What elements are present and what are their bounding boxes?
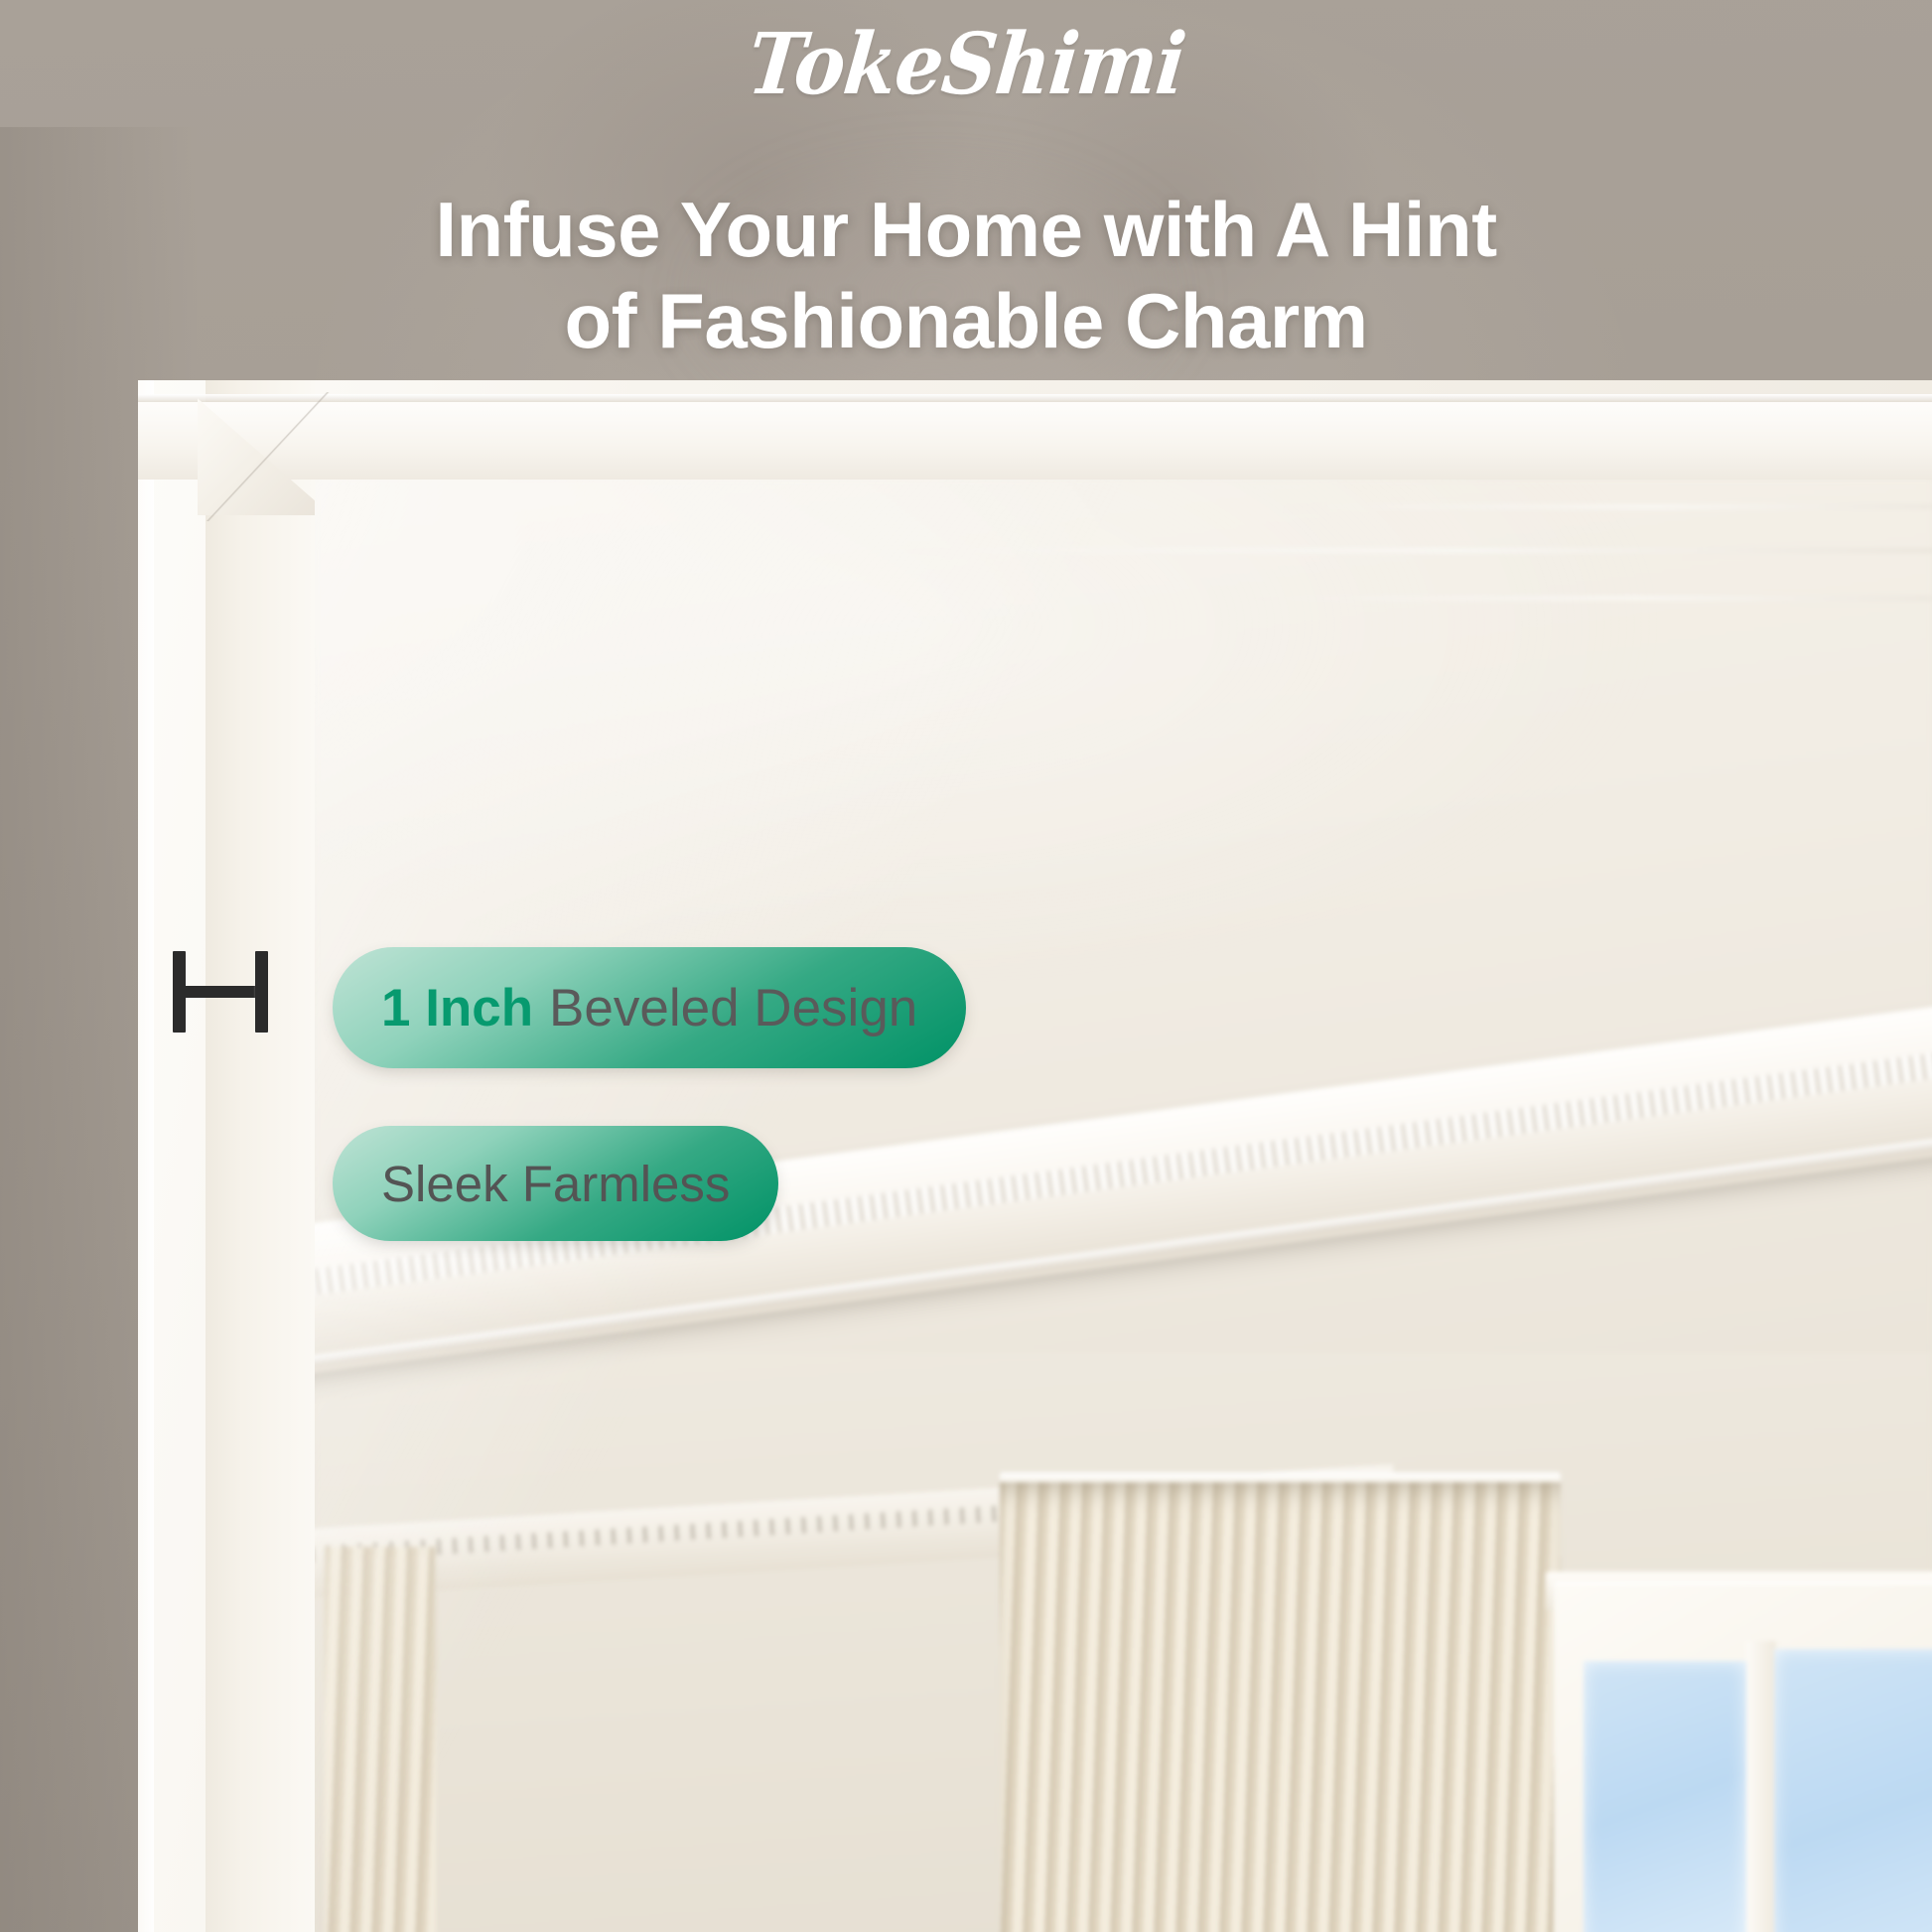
brand-logo: TokeShimi [743, 14, 1188, 113]
feature-pill-beveled-design: 1 Inch Beveled Design [336, 950, 963, 1065]
feature-pill-sleek-frameless: Sleek Farmless [336, 1129, 775, 1238]
headline-line-2: of Fashionable Charm [0, 275, 1932, 366]
mirror-frame-left-highlight [138, 380, 154, 1932]
headline-line-1: Infuse Your Home with A Hint [0, 184, 1932, 275]
product-infographic: TokeShimi Infuse Your Home with A Hint o… [0, 0, 1932, 1932]
marker-cap-right [255, 951, 268, 1033]
mirror-bevel-top [138, 402, 1932, 480]
feature-pill-label: Sleek Farmless [381, 1155, 730, 1213]
mirror-bevel-left [206, 380, 315, 1932]
page-title: Infuse Your Home with A Hint of Fashiona… [0, 184, 1932, 366]
marker-bar [183, 986, 258, 998]
brand-banner: TokeShimi [0, 0, 1932, 127]
bevel-width-marker-icon [173, 951, 268, 1033]
feature-pill-accent: 1 Inch [381, 978, 533, 1038]
feature-pill-label: Beveled Design [549, 978, 917, 1038]
mirror-top-edge [138, 394, 1932, 402]
